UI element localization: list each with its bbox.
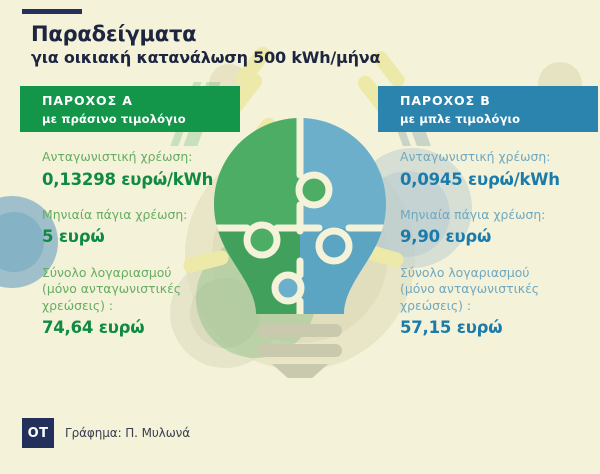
- provider-b-subtitle: με μπλε τιμολόγιο: [400, 112, 598, 127]
- page-subtitle: για οικιακή κατανάλωση 500 kWh/μήνα: [31, 48, 451, 69]
- row-value: 74,64 ευρώ: [42, 317, 240, 338]
- provider-a-row-total-bill: Σύνολο λογαριασμού (μόνο ανταγωνιστικές …: [42, 265, 240, 339]
- provider-a-row-competitive-charge: Ανταγωνιστική χρέωση: 0,13298 ευρώ/kWh: [42, 149, 240, 190]
- credit-text: Γράφημα: Π. Μυλωνά: [65, 426, 190, 440]
- provider-a-banner: ΠΑΡΟΧΟΣ Α με πράσινο τιμολόγιο: [20, 86, 240, 132]
- row-label: Ανταγωνιστική χρέωση:: [42, 149, 240, 166]
- page-title: Παραδείγματα: [31, 22, 451, 47]
- row-label: Σύνολο λογαριασμού (μόνο ανταγωνιστικές …: [400, 265, 598, 315]
- provider-b-row-total-bill: Σύνολο λογαριασμού (μόνο ανταγωνιστικές …: [400, 265, 598, 339]
- provider-a-subtitle: με πράσινο τιμολόγιο: [42, 112, 240, 127]
- title-rule: [22, 9, 82, 14]
- row-value: 9,90 ευρώ: [400, 226, 598, 247]
- ot-logo: ΟΤ: [22, 418, 54, 448]
- row-value: 0,0945 ευρώ/kWh: [400, 169, 598, 190]
- infographic-poster: Παραδείγματα για οικιακή κατανάλωση 500 …: [0, 0, 600, 474]
- provider-panel-a: ΠΑΡΟΧΟΣ Α με πράσινο τιμολόγιο Ανταγωνισ…: [20, 86, 240, 339]
- provider-panel-b: ΠΑΡΟΧΟΣ Β με μπλε τιμολόγιο Ανταγωνιστικ…: [378, 86, 598, 339]
- row-value: 0,13298 ευρώ/kWh: [42, 169, 240, 190]
- row-label: Ανταγωνιστική χρέωση:: [400, 149, 598, 166]
- provider-b-banner: ΠΑΡΟΧΟΣ Β με μπλε τιμολόγιο: [378, 86, 598, 132]
- bulb-base: [258, 324, 342, 378]
- provider-b-rows: Ανταγωνιστική χρέωση: 0,0945 ευρώ/kWh Μη…: [378, 132, 598, 339]
- row-value: 5 ευρώ: [42, 226, 240, 247]
- provider-a-row-monthly-fixed-charge: Μηνιαία πάγια χρέωση: 5 ευρώ: [42, 207, 240, 248]
- provider-b-row-competitive-charge: Ανταγωνιστική χρέωση: 0,0945 ευρώ/kWh: [400, 149, 598, 190]
- title-block: Παραδείγματα για οικιακή κατανάλωση 500 …: [31, 22, 451, 69]
- provider-b-row-monthly-fixed-charge: Μηνιαία πάγια χρέωση: 9,90 ευρώ: [400, 207, 598, 248]
- row-value: 57,15 ευρώ: [400, 317, 598, 338]
- row-label: Μηνιαία πάγια χρέωση:: [400, 207, 598, 224]
- provider-a-title: ΠΑΡΟΧΟΣ Α: [42, 93, 240, 109]
- provider-b-title: ΠΑΡΟΧΟΣ Β: [400, 93, 598, 109]
- provider-a-rows: Ανταγωνιστική χρέωση: 0,13298 ευρώ/kWh Μ…: [20, 132, 240, 339]
- row-label: Σύνολο λογαριασμού (μόνο ανταγωνιστικές …: [42, 265, 240, 315]
- footer: ΟΤ Γράφημα: Π. Μυλωνά: [22, 418, 190, 448]
- row-label: Μηνιαία πάγια χρέωση:: [42, 207, 240, 224]
